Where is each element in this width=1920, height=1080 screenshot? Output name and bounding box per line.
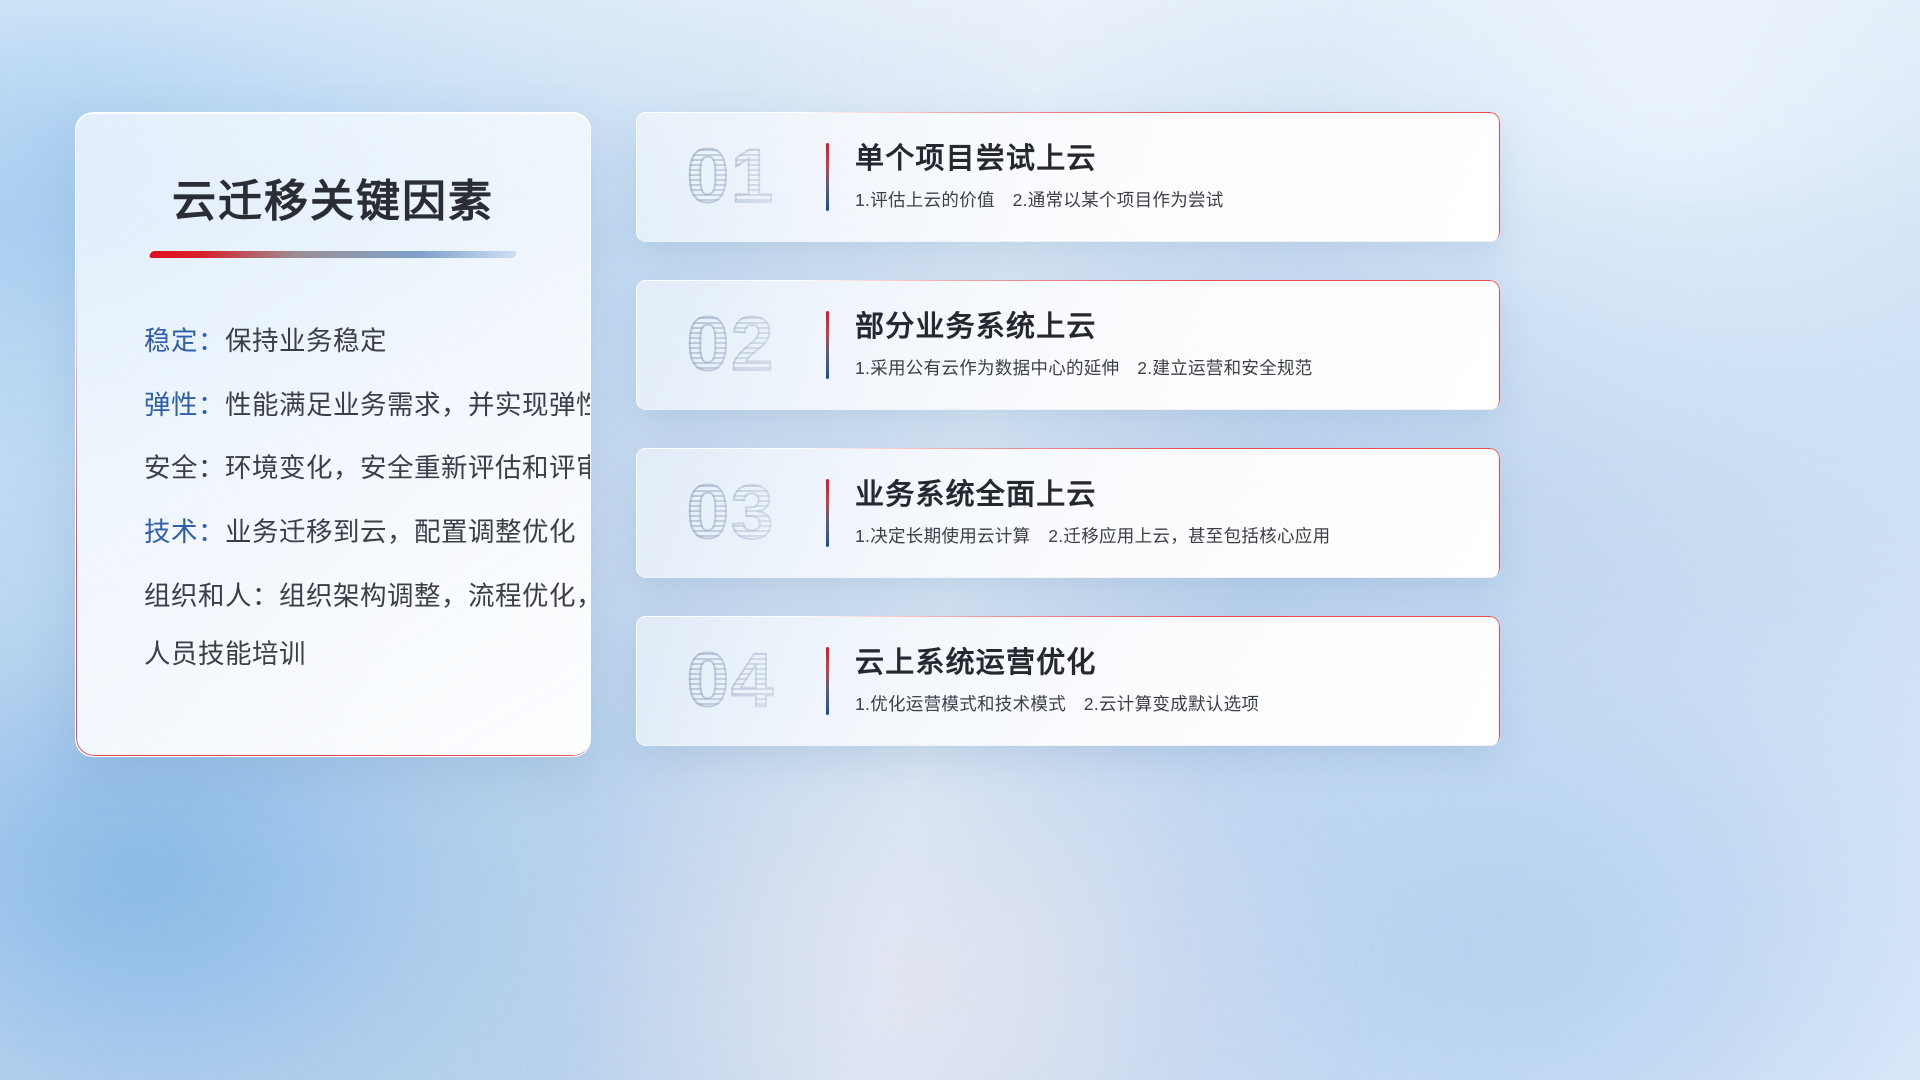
step-accent-bar (826, 143, 829, 211)
title-underline-rule (149, 251, 518, 258)
page-title: 云迁移关键因素 (116, 176, 550, 229)
factor-text: 保持业务稳定 (225, 326, 387, 356)
factor-label: 组织和人： (144, 581, 279, 611)
step-description: 1.评估上云的价值 2.通常以某个项目作为尝试 (855, 189, 1476, 212)
step-text-block: 单个项目尝试上云 1.评估上云的价值 2.通常以某个项目作为尝试 (855, 142, 1500, 212)
step-description: 1.优化运营模式和技术模式 2.云计算变成默认选项 (855, 693, 1476, 716)
factor-label: 安全： (144, 453, 225, 483)
step-title: 单个项目尝试上云 (855, 142, 1476, 177)
step-number: 01 (636, 139, 826, 215)
step-number: 03 (636, 475, 826, 551)
list-item: 技术：业务迁移到云，配置调整优化 (144, 517, 550, 548)
step-accent-bar (826, 647, 829, 715)
step-text-block: 云上系统运营优化 1.优化运营模式和技术模式 2.云计算变成默认选项 (855, 646, 1500, 716)
step-description: 1.决定长期使用云计算 2.迁移应用上云，甚至包括核心应用 (855, 525, 1476, 548)
step-title: 业务系统全面上云 (855, 478, 1476, 513)
factor-text: 性能满足业务需求，并实现弹性 (225, 390, 591, 420)
list-item: 弹性：性能满足业务需求，并实现弹性 (144, 390, 550, 421)
step-card-01[interactable]: 01 单个项目尝试上云 1.评估上云的价值 2.通常以某个项目作为尝试 (636, 112, 1500, 242)
list-item: 稳定：保持业务稳定 (144, 326, 550, 357)
step-title: 云上系统运营优化 (855, 646, 1476, 681)
key-factors-panel: 云迁移关键因素 稳定：保持业务稳定 弹性：性能满足业务需求，并实现弹性 安全：环… (75, 112, 591, 757)
step-card-03[interactable]: 03 业务系统全面上云 1.决定长期使用云计算 2.迁移应用上云，甚至包括核心应… (636, 448, 1500, 578)
factor-text: 组织架构调整，流程优化， (279, 581, 591, 611)
factor-label: 弹性： (144, 390, 225, 420)
slide-stage: 云迁移关键因素 稳定：保持业务稳定 弹性：性能满足业务需求，并实现弹性 安全：环… (0, 0, 1920, 1080)
step-accent-bar (826, 311, 829, 379)
list-item: 安全：环境变化，安全重新评估和评审 (144, 453, 550, 484)
step-accent-bar (826, 479, 829, 547)
factor-text: 业务迁移到云，配置调整优化 (225, 517, 576, 547)
step-card-02[interactable]: 02 部分业务系统上云 1.采用公有云作为数据中心的延伸 2.建立运营和安全规范 (636, 280, 1500, 410)
factor-label: 稳定： (144, 326, 225, 356)
factor-list: 稳定：保持业务稳定 弹性：性能满足业务需求，并实现弹性 安全：环境变化，安全重新… (116, 326, 550, 672)
factor-text: 环境变化，安全重新评估和评审 (225, 453, 591, 483)
step-card-04[interactable]: 04 云上系统运营优化 1.优化运营模式和技术模式 2.云计算变成默认选项 (636, 616, 1500, 746)
step-description: 1.采用公有云作为数据中心的延伸 2.建立运营和安全规范 (855, 357, 1476, 380)
factor-label: 技术： (144, 517, 225, 547)
migration-steps-list: 01 单个项目尝试上云 1.评估上云的价值 2.通常以某个项目作为尝试 02 部… (636, 112, 1500, 784)
factor-text-continuation: 人员技能培训 (144, 632, 550, 671)
step-text-block: 部分业务系统上云 1.采用公有云作为数据中心的延伸 2.建立运营和安全规范 (855, 310, 1500, 380)
list-item: 组织和人：组织架构调整，流程优化， (144, 581, 550, 612)
step-title: 部分业务系统上云 (855, 310, 1476, 345)
step-number: 04 (636, 643, 826, 719)
step-text-block: 业务系统全面上云 1.决定长期使用云计算 2.迁移应用上云，甚至包括核心应用 (855, 478, 1500, 548)
step-number: 02 (636, 307, 826, 383)
